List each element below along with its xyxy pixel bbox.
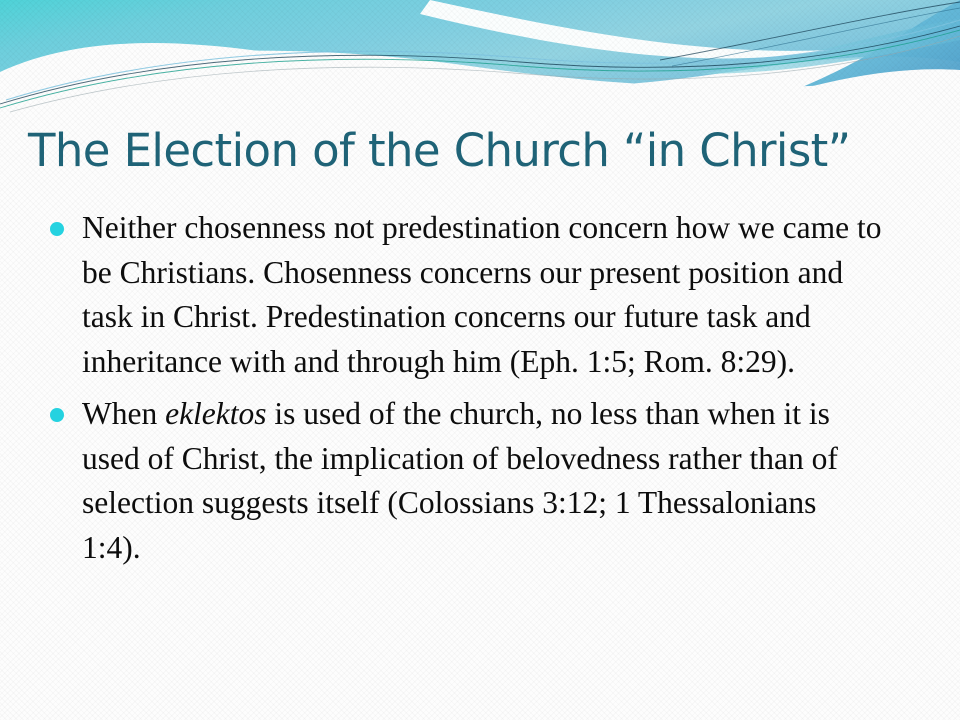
presentation-slide: The Election of the Church “in Christ” N…: [0, 0, 960, 720]
bullet-dot-icon: [50, 408, 64, 422]
bullet-paragraph-1: Neither chosenness not predestination co…: [82, 206, 882, 384]
list-item: Neither chosenness not predestination co…: [50, 206, 920, 384]
bullet-paragraph-2: When eklektos is used of the church, no …: [82, 392, 882, 570]
banner-artwork: [0, 0, 960, 118]
page-title: The Election of the Church “in Christ”: [0, 122, 960, 180]
bullet-dot-icon: [50, 222, 64, 236]
slide-title-block: The Election of the Church “in Christ”: [0, 122, 960, 180]
flow-wave-banner: [0, 0, 960, 118]
slide-body-content: Neither chosenness not predestination co…: [0, 206, 960, 578]
list-item: When eklektos is used of the church, no …: [50, 392, 920, 570]
